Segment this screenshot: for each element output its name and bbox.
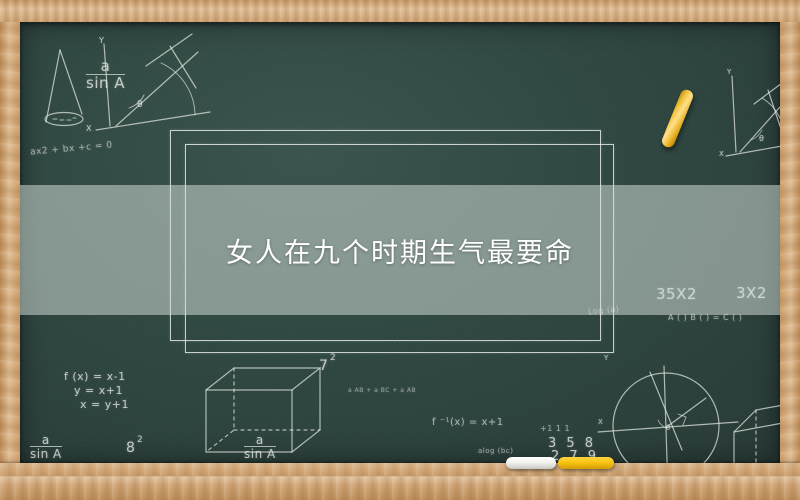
carry-marks: +1 1 1 [540,424,570,433]
power-seven-exponent: 2 [330,353,336,363]
frame-left-rail [0,0,20,500]
angle-diagram-theta: θ [759,134,764,143]
inverse-function: f ⁻¹(x) = x+1 [432,417,504,428]
frame-top-rail [0,0,800,22]
fraction-numerator: a [86,59,125,74]
power-eight-squared: 8 [126,440,135,456]
law-of-sines-fraction-2: a sin A [30,434,62,460]
frame-bottom-rail [0,476,800,500]
angle-diagram-axis-y: Y [727,68,732,76]
function-line-1: f (x) = x-1 [64,370,126,383]
circle-angle-theta: θ [666,424,671,432]
yellow-chalk-piece[interactable] [558,457,614,469]
page-title: 女人在九个时期生气最要命 [20,185,780,315]
angle-label-theta: θ [137,100,143,110]
fraction-numerator: a [244,434,276,446]
axis-label-x: X [86,124,92,133]
power-eight-exponent: 2 [137,435,143,445]
axis-label-y: Y [99,36,104,45]
circle-axis-label-x: X [598,418,603,426]
angle-diagram-axis-x: X [719,150,724,158]
fraction-numerator: a [30,434,62,446]
fraction-denominator: sin A [86,74,125,91]
law-of-sines-fraction: a sin A [86,59,125,92]
fraction-denominator: sin A [244,446,276,460]
frame-right-rail [780,0,800,500]
chalk-ledge [0,463,800,476]
power-seven-squared: 7 [319,358,328,374]
law-of-sines-fraction-3: a sin A [244,434,276,460]
circle-axis-label-y: Y [604,354,609,362]
white-chalk-piece[interactable] [506,457,556,469]
screenshot-root: a sin A Y X θ ax2 + bx +c = 0 Y X θ f (x… [0,0,800,500]
function-line-3: x = y+1 [80,398,129,411]
log-identity: alog (bc) [478,447,513,455]
function-line-2: y = x+1 [74,384,123,397]
fraction-denominator: sin A [30,446,62,460]
vector-identity: a AB + a BC + a AB [348,387,416,394]
